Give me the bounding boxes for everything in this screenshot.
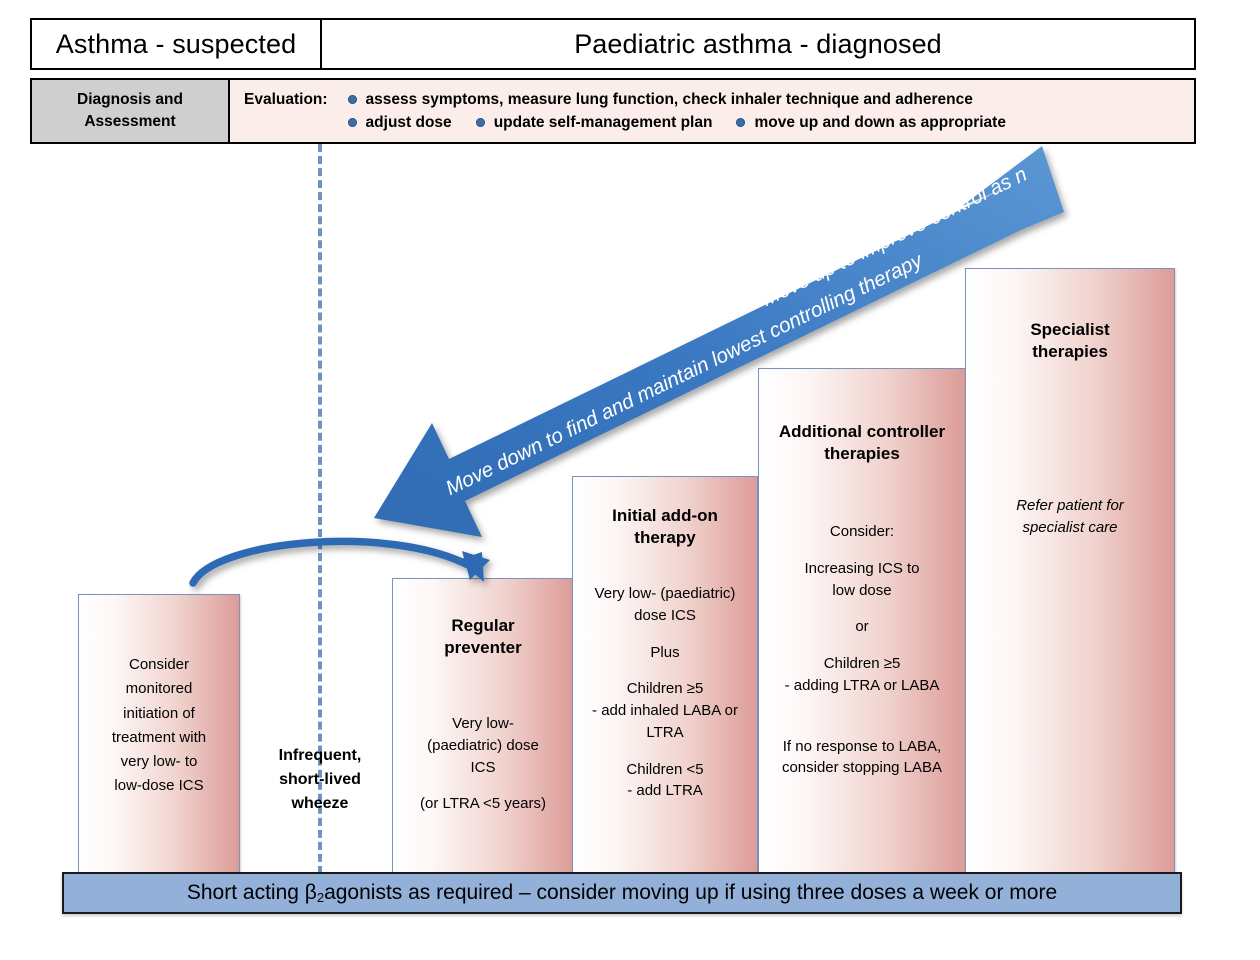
- step-initial-add-on-therapy[interactable]: Initial add-on therapy Very low- (paedia…: [572, 476, 758, 882]
- step4-para-0: Refer patient forspecialist care: [1016, 495, 1124, 539]
- step3-para-3: Children ≥5- adding LTRA or LABA: [782, 653, 942, 697]
- evaluation-line-2: Evaluation: adjust dose update self-mana…: [244, 111, 1184, 134]
- evaluation-row: Diagnosis and Assessment Evaluation: ass…: [30, 78, 1196, 144]
- step-additional-controller-therapies[interactable]: Additional controller therapies Consider…: [758, 368, 966, 882]
- saba-reliever-bar: Short acting β2agonists as required – co…: [62, 872, 1182, 914]
- step3-para-2: or: [782, 616, 942, 638]
- step2-para-0: Very low- (paediatric)dose ICS: [592, 583, 738, 627]
- wheeze-line1: Infrequent,: [250, 744, 390, 768]
- evaluation-cell: Evaluation: assess symptoms, measure lun…: [230, 78, 1196, 144]
- step1-body: Very low-(paediatric) doseICS (or LTRA <…: [420, 713, 546, 815]
- wheeze-line3: wheeze: [250, 792, 390, 816]
- step1-title: Regular preventer: [444, 615, 521, 659]
- bullet-icon: [476, 118, 485, 127]
- step1-para-1: (or LTRA <5 years): [420, 793, 546, 815]
- step3-title-line1: Additional controller: [779, 421, 945, 443]
- bullet-icon: [348, 95, 357, 104]
- step2-title-line1: Initial add-on: [612, 505, 718, 527]
- saba-text-after: agonists as required – consider moving u…: [324, 881, 1057, 905]
- diagnosis-label-line2: Assessment: [84, 111, 175, 133]
- header-asthma-suspected: Asthma - suspected: [32, 20, 322, 68]
- evaluation-line-1: Evaluation: assess symptoms, measure lun…: [244, 88, 1184, 111]
- step0-line-0: Consider: [112, 653, 206, 677]
- step2-body: Very low- (paediatric)dose ICS Plus Chil…: [592, 583, 738, 802]
- step2-para-2: Children ≥5- add inhaled LABA orLTRA: [592, 678, 738, 743]
- step-up-curved-arrow: [193, 541, 490, 583]
- step3-spacer: [782, 712, 942, 736]
- step0-line-1: monitored: [112, 677, 206, 701]
- step3-para-1: Increasing ICS tolow dose: [782, 558, 942, 602]
- step1-para-0: Very low-(paediatric) doseICS: [420, 713, 546, 778]
- step3-title-line2: therapies: [779, 443, 945, 465]
- evaluation-title: Evaluation:: [244, 88, 328, 111]
- diagnosis-label-line1: Diagnosis and: [77, 89, 183, 111]
- step3-para-0: Consider:: [782, 521, 942, 543]
- evaluation-item-3: move up and down as appropriate: [754, 111, 1005, 134]
- header-paediatric-asthma-diagnosed: Paediatric asthma - diagnosed: [322, 20, 1194, 68]
- step-specialist-therapies[interactable]: Specialist therapies Refer patient forsp…: [965, 268, 1175, 882]
- step4-body: Refer patient forspecialist care: [1016, 495, 1124, 539]
- step3-body: Consider: Increasing ICS tolow dose or C…: [782, 521, 942, 779]
- step4-title-line1: Specialist: [1030, 319, 1109, 341]
- step0-body: Consider monitored initiation of treatme…: [112, 653, 206, 799]
- wheeze-line2: short-lived: [250, 768, 390, 792]
- header-row: Asthma - suspected Paediatric asthma - d…: [30, 18, 1196, 70]
- bullet-icon: [348, 118, 357, 127]
- saba-text-before: Short acting β: [187, 881, 317, 905]
- infrequent-wheeze-label: Infrequent, short-lived wheeze: [250, 744, 390, 816]
- step-regular-preventer[interactable]: Regular preventer Very low-(paediatric) …: [392, 578, 574, 882]
- step3-title: Additional controller therapies: [779, 421, 945, 465]
- step2-para-1: Plus: [592, 642, 738, 664]
- step2-para-3: Children <5- add LTRA: [592, 759, 738, 803]
- step0-line-2: initiation of: [112, 702, 206, 726]
- bullet-icon: [736, 118, 745, 127]
- step0-line-3: treatment with: [112, 726, 206, 750]
- step0-line-5: low-dose ICS: [112, 774, 206, 798]
- step1-title-line2: preventer: [444, 637, 521, 659]
- evaluation-item-2: update self-management plan: [494, 111, 713, 134]
- step-consider-monitored-initiation[interactable]: Consider monitored initiation of treatme…: [78, 594, 240, 882]
- asthma-stepwise-management-diagram: Asthma - suspected Paediatric asthma - d…: [0, 0, 1260, 960]
- step1-title-line1: Regular: [444, 615, 521, 637]
- step3-para-4: If no response to LABA,consider stopping…: [782, 736, 942, 780]
- step4-title: Specialist therapies: [1030, 319, 1109, 363]
- evaluation-item-1: adjust dose: [366, 111, 452, 134]
- step4-title-line2: therapies: [1030, 341, 1109, 363]
- step2-title-line2: therapy: [612, 527, 718, 549]
- evaluation-item-0: assess symptoms, measure lung function, …: [366, 88, 973, 111]
- step0-line-4: very low- to: [112, 750, 206, 774]
- saba-subscript: 2: [317, 890, 324, 905]
- step2-title: Initial add-on therapy: [612, 505, 718, 549]
- diagnosis-and-assessment-cell: Diagnosis and Assessment: [30, 78, 230, 144]
